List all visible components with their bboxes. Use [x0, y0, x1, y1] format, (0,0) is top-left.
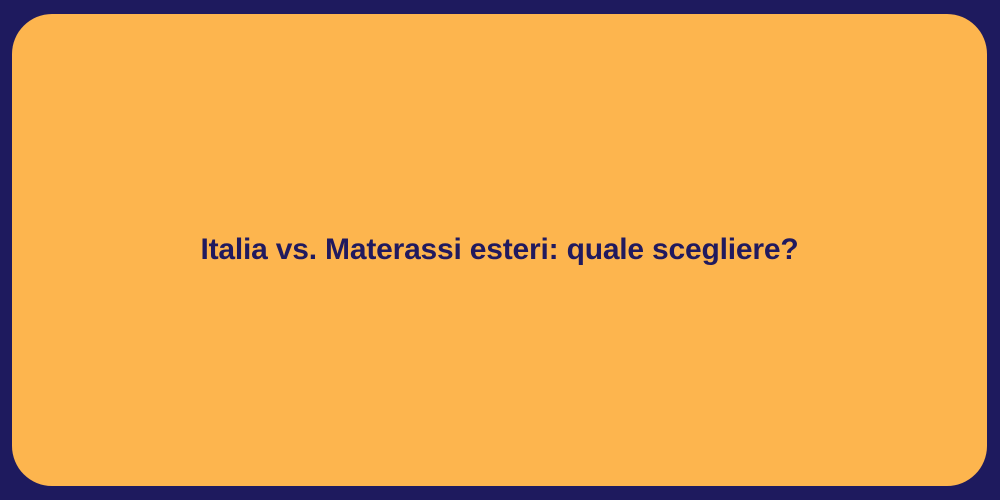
headline-card-content: Italia vs. Materassi esteri: quale scegl…: [12, 231, 987, 269]
page-title: Italia vs. Materassi esteri: quale scegl…: [201, 231, 799, 269]
page-frame: Italia vs. Materassi esteri: quale scegl…: [0, 0, 1000, 500]
headline-card: Italia vs. Materassi esteri: quale scegl…: [12, 14, 987, 486]
